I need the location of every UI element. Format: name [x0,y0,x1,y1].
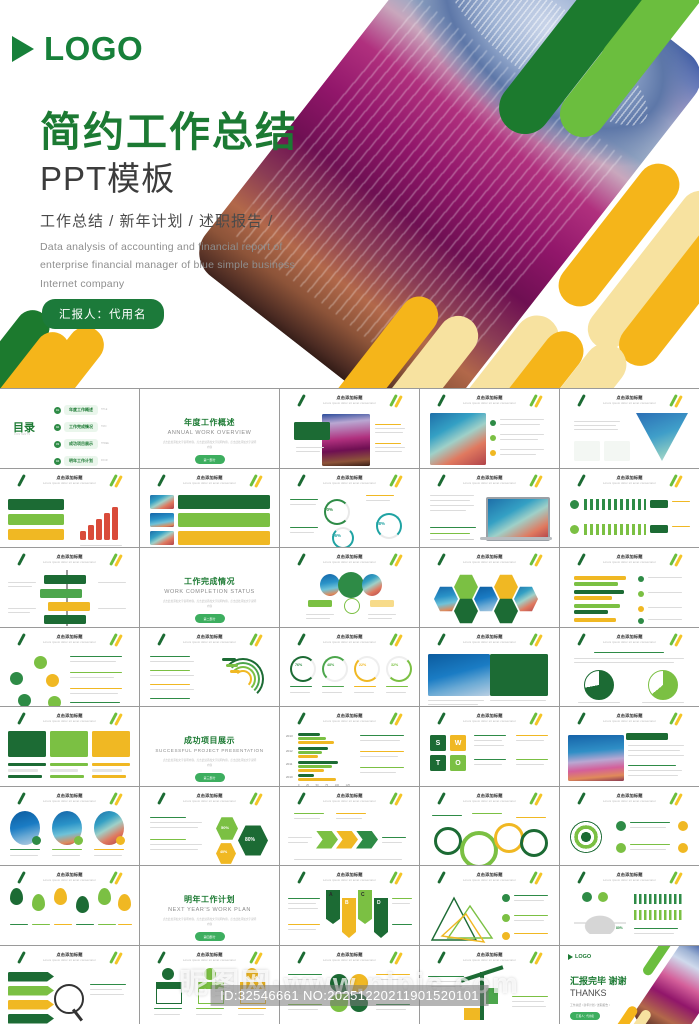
poster-page: LOGO 简约工作总结 PPT模板 工作总结 / 新年计划 / 述职报告 / D… [0,0,699,1024]
catalog-item-label: 工作完成情况 [64,422,98,432]
team-percent: 80% [616,926,623,930]
node [34,656,47,669]
hbar [574,604,620,608]
thumb-jelly-photo-text[interactable]: 点击添加标题 Lorem ipsum dolor sit amet consec… [560,707,699,786]
catalog-item-code: FOUR [101,460,108,462]
crane-load [464,1008,480,1020]
thumb-arrows-chart[interactable]: 点击添加标题 Lorem ipsum dolor sit amet consec… [0,469,139,548]
thumb-title: 点击添加标题 [280,872,419,878]
thumb-subtitle: Lorem ipsum dolor sit amet consectetur [0,800,139,803]
text-panel [490,654,548,696]
card [8,731,46,757]
triangle-photo [636,413,688,461]
map-pin-icon [76,896,89,913]
photo [150,513,174,527]
sign-band [44,615,86,624]
thumb-subtitle: Lorem ipsum dolor sit amet consectetur [420,800,559,803]
thumb-subtitle: Lorem ipsum dolor sit amet consectetur [280,800,419,803]
swot-o: O [450,755,466,771]
swot-s: S [430,735,446,751]
section-desc: 点击此处添加文字说明内容，点击此处添加文字说明内容，点击此处添加文字说明内容 [162,600,257,610]
abcd-letter: C [361,892,365,898]
thumb-title: 点击添加标题 [420,872,559,878]
thumb-title: 点击添加标题 [560,395,699,401]
chart-xtick: 125 [346,784,350,786]
hex-value: 50% [221,825,229,830]
section-title-cn: 工作完成情况 [140,576,279,587]
crane-cabin [486,988,498,1004]
node [46,674,59,687]
arrow-band [8,499,64,510]
thanks-keywords: 工作总结 / 新年计划 / 述职报告 / [570,1003,610,1007]
catalog-item-code: TWO [101,426,106,428]
hex-photo [474,586,498,612]
thumb-subtitle: Lorem ipsum dolor sit amet consectetur [0,641,139,644]
laptop-mockup [486,497,550,541]
chart-bar [298,737,326,740]
sign-band [44,575,86,584]
slide-thumbnail-grid: 目录 CONTENTS 01 年度工作概述 TITLE 02 工作完成情况 TW… [0,388,699,1024]
map-pin-icon [54,888,67,905]
thumb-title: 点击添加标题 [0,554,139,560]
thumb-subtitle: Lorem ipsum dolor sit amet consectetur [140,641,279,644]
sign-band [40,589,82,598]
thanks-pill: 汇报人：代用名 [570,1012,600,1020]
thumb-subtitle: Lorem ipsum dolor sit amet consectetur [0,959,139,962]
donut-chart [386,656,412,682]
thumb-three-cards[interactable]: 点击添加标题 Lorem ipsum dolor sit amet consec… [0,707,139,786]
thumb-hex-percent[interactable]: 点击添加标题 Lorem ipsum dolor sit amet consec… [140,787,279,866]
thumb-oval-photos[interactable]: 点击添加标题 Lorem ipsum dolor sit amet consec… [0,787,139,866]
hex-percent [216,843,236,865]
thumb-image-list-1[interactable]: 点击添加标题 Lorem ipsum dolor sit amet consec… [420,389,559,468]
abcd-letter: B [345,900,349,906]
node [18,694,31,707]
thumb-arrows-row[interactable]: 点击添加标题 Lorem ipsum dolor sit amet consec… [280,787,419,866]
section-desc: 点击此处添加文字说明内容，点击此处添加文字说明内容，点击此处添加文字说明内容 [162,441,257,451]
thanks-logo: LOGO [568,954,591,960]
person-icon [570,500,579,509]
donut-value: 36% [332,533,341,538]
crane-mast [480,972,484,1020]
people-row [584,524,646,535]
thumb-title: 点击添加标题 [0,713,139,719]
catalog-item-code: TITLE [101,409,107,411]
section-title-en: NEXT YEAR'S WORK PLAN [140,907,279,913]
thumb-laptop-data[interactable]: 点击添加标题 Lorem ipsum dolor sit amet consec… [420,469,559,548]
donut-chart [354,656,380,682]
thumb-section-1[interactable]: 年度工作概述 ANNUAL WORK OVERVIEW 点击此处添加文字说明内容… [140,389,279,468]
swot-letter: O [455,760,460,767]
map-pin-icon [10,888,23,905]
catalog-item-label: 成功项目展示 [64,439,98,449]
section-title-en: SUCCESSFUL PROJECT PRESENTATION [140,748,279,753]
map-pin-icon [32,894,45,911]
arrow-chevron [316,831,338,849]
logo-text: LOGO [44,30,143,68]
caption-card [294,422,330,440]
bullet-icon [490,435,496,441]
card [92,731,130,757]
shop-icon [240,982,266,1004]
donut-value: 48% [327,663,334,667]
gear-icon [460,831,498,866]
donut-value: 76% [295,663,302,667]
thumb-subtitle: Lorem ipsum dolor sit amet consectetur [420,720,559,723]
sign-band [48,602,90,611]
hbar [574,576,626,580]
photo [150,531,174,545]
shop-icon [198,982,224,1004]
thumb-title: 点击添加标题 [420,634,559,640]
abcd-letter: D [377,900,381,906]
search-icon [598,892,608,902]
photo [150,495,174,509]
thumb-dolphin-panel[interactable]: 点击添加标题 Lorem ipsum dolor sit amet consec… [420,628,559,707]
thumb-bar-list[interactable]: 点击添加标题 Lorem ipsum dolor sit amet consec… [560,548,699,627]
thumb-gears[interactable]: 点击添加标题 Lorem ipsum dolor sit amet consec… [420,787,559,866]
thumb-triangle-photo[interactable]: 点击添加标题 Lorem ipsum dolor sit amet consec… [560,389,699,468]
thumb-network-diagram[interactable]: 点击添加标题 Lorem ipsum dolor sit amet consec… [0,628,139,707]
gear-icon [520,829,548,857]
photo [568,735,624,781]
list-band [8,986,54,996]
pie-chart [584,670,614,700]
chart-xtick: 50 [316,784,319,786]
section-pill: 第二部分 [194,614,224,623]
section-title-en: ANNUAL WORK OVERVIEW [140,430,279,436]
thumb-image-text-1[interactable]: 点击添加标题 Lorem ipsum dolor sit amet consec… [280,389,419,468]
donut-chart [290,656,316,682]
spiral-cap [226,664,238,667]
stat-card [574,441,600,461]
chart-bar [298,778,336,781]
gear-icon [434,827,462,855]
thumb-title: 点击添加标题 [140,952,279,958]
chart-bar [298,733,320,736]
thumb-circle-photos[interactable]: 点击添加标题 Lorem ipsum dolor sit amet consec… [280,548,419,627]
hex-tile [494,598,518,624]
thumb-subtitle: Lorem ipsum dolor sit amet consectetur [280,879,419,882]
section-title-cn: 年度工作概述 [140,417,279,428]
thumb-title: 点击添加标题 [560,713,699,719]
thumb-title: 点击添加标题 [420,793,559,799]
thumb-subtitle: Lorem ipsum dolor sit amet consectetur [560,482,699,485]
row-band [178,531,270,545]
thumb-section-3[interactable]: 成功项目展示 SUCCESSFUL PROJECT PRESENTATION 点… [140,707,279,786]
hero-title: 简约工作总结 [40,98,298,158]
stat-card [604,441,630,461]
list-band [8,1014,54,1024]
photo-circle [362,574,382,596]
spiral-cap [222,658,236,661]
thumb-title: 点击添加标题 [280,475,419,481]
map-pin-icon [118,894,131,911]
hex-photo [434,586,458,612]
thumb-subtitle: Lorem ipsum dolor sit amet consectetur [420,561,559,564]
badge-icon [32,836,41,845]
people-row [634,894,684,904]
hero-banner: LOGO 简约工作总结 PPT模板 工作总结 / 新年计划 / 述职报告 / D… [0,0,699,388]
catalog-bullet: 03 [54,441,61,448]
hex-tile [454,574,478,600]
bullet-icon [490,420,496,426]
thumb-title: 点击添加标题 [0,634,139,640]
thumb-subtitle: Lorem ipsum dolor sit amet consectetur [280,720,419,723]
thumb-subtitle: Lorem ipsum dolor sit amet consectetur [280,482,419,485]
map-pin-icon [98,888,111,905]
play-triangle-icon [12,36,34,62]
magnifier-icon [54,984,84,1014]
thumb-magnifier-list[interactable]: 点击添加标题 Lorem ipsum dolor sit amet consec… [0,946,139,1024]
shop-icon [156,982,182,1004]
hero-subtitle: PPT模板 [40,152,175,200]
section-pill: 第四部分 [194,932,224,941]
abcd-letter: A [329,892,333,898]
thumb-crane[interactable]: 点击添加标题 Lorem ipsum dolor sit amet consec… [420,946,559,1024]
thumb-shop-icons[interactable]: 点击添加标题 Lorem ipsum dolor sit amet consec… [140,946,279,1024]
thumb-meeting-people[interactable]: 点击添加标题 Lorem ipsum dolor sit amet consec… [560,866,699,945]
section-pill: 第三部分 [194,773,224,782]
thumb-hexagons[interactable]: 点击添加标题 Lorem ipsum dolor sit amet consec… [420,548,559,627]
bar-step [96,519,102,540]
section-title-cn: 成功项目展示 [140,735,279,746]
label-chip [626,733,668,740]
thumb-catalog[interactable]: 目录 CONTENTS 01 年度工作概述 TITLE 02 工作完成情况 TW… [0,389,139,468]
thumb-title: 点击添加标题 [420,713,559,719]
gear-icon [494,823,524,853]
thumb-subtitle: Lorem ipsum dolor sit amet consectetur [420,482,559,485]
clover-leaf [350,974,368,992]
people-row [634,910,684,920]
thumb-title: 点击添加标题 [280,793,419,799]
thumb-subtitle: Lorem ipsum dolor sit amet consectetur [420,879,559,882]
label-chip [650,525,668,533]
thumb-bar-chart[interactable]: 点击添加标题 Lorem ipsum dolor sit amet consec… [280,707,419,786]
thumb-title: 点击添加标题 [0,872,139,878]
swot-letter: T [436,760,440,767]
thumb-subtitle: Lorem ipsum dolor sit amet consectetur [560,641,699,644]
percent-circle [344,598,360,614]
thumb-thanks[interactable]: LOGO 汇报完毕 谢谢 THANKS 工作总结 / 新年计划 / 述职报告 /… [560,946,699,1024]
thumb-subtitle: Lorem ipsum dolor sit amet consectetur [0,879,139,882]
spiral-cap [230,670,240,673]
center-circle [338,572,364,598]
node-icon [678,843,688,853]
hex-value: 40% [220,850,227,854]
thumb-subtitle: Lorem ipsum dolor sit amet consectetur [420,641,559,644]
presenter-badge: 汇报人：代用名 [42,299,164,329]
thumb-title: 点击添加标题 [140,634,279,640]
thumb-triangles-outline[interactable]: 点击添加标题 Lorem ipsum dolor sit amet consec… [420,866,559,945]
thumb-subtitle: Lorem ipsum dolor sit amet consectetur [420,959,559,962]
swot-letter: S [436,740,441,747]
arrow-chevron [356,831,378,849]
thumb-subtitle: Lorem ipsum dolor sit amet consectetur [140,482,279,485]
thumb-title: 点击添加标题 [140,793,279,799]
node-icon [678,821,688,831]
thumb-people-stats[interactable]: 点击添加标题 Lorem ipsum dolor sit amet consec… [560,469,699,548]
thumb-donuts[interactable]: 点击添加标题 Lorem ipsum dolor sit amet consec… [280,469,419,548]
thumb-photo-rows[interactable]: 点击添加标题 Lorem ipsum dolor sit amet consec… [140,469,279,548]
thumb-subtitle: Lorem ipsum dolor sit amet consectetur [280,402,419,405]
chart-bar [298,765,332,768]
clover-leaf [330,994,348,1012]
badge-icon [74,836,83,845]
thumb-title: 点击添加标题 [560,475,699,481]
thumb-title: 点击添加标题 [560,554,699,560]
node-icon [502,914,510,922]
hbar [574,610,608,614]
section-desc: 点击此处添加文字说明内容，点击此处添加文字说明内容，点击此处添加文字说明内容 [162,918,257,928]
donut-value: 22% [359,663,366,667]
row-band [178,495,270,509]
chart-bar [298,755,318,758]
thumb-subtitle: Lorem ipsum dolor sit amet consectetur [420,402,559,405]
target-icon [570,821,602,853]
section-pill: 第一部分 [194,455,224,464]
swot-letter: W [455,740,462,747]
chart-bar [298,774,314,777]
thumb-subtitle: Lorem ipsum dolor sit amet consectetur [0,561,139,564]
label-chip [650,500,668,508]
bullet-icon [490,450,496,456]
section-title-cn: 明年工作计划 [140,894,279,905]
thumb-abcd-banners[interactable]: 点击添加标题 Lorem ipsum dolor sit amet consec… [280,866,419,945]
thumb-subtitle: Lorem ipsum dolor sit amet consectetur [0,482,139,485]
thumb-subtitle: Lorem ipsum dolor sit amet consectetur [280,959,419,962]
thumb-title: 点击添加标题 [420,475,559,481]
thumb-target[interactable]: 点击添加标题 Lorem ipsum dolor sit amet consec… [560,787,699,866]
thumb-subtitle: Lorem ipsum dolor sit amet consectetur [560,561,699,564]
thumb-subtitle: Lorem ipsum dolor sit amet consectetur [560,402,699,405]
thumb-title: 点击添加标题 [420,554,559,560]
chart-xtick: 0 [298,784,299,786]
thumb-clover[interactable]: 点击添加标题 Lorem ipsum dolor sit amet consec… [280,946,419,1024]
photo [428,654,490,696]
hbar [574,596,612,600]
arrow-band [8,514,64,525]
thumb-four-donuts[interactable]: 点击添加标题 Lorem ipsum dolor sit amet consec… [280,628,419,707]
swot-t: T [430,755,446,771]
node-icon [616,843,626,853]
clover-leaf [350,994,368,1012]
node-icon [616,821,626,831]
hex-tile [454,598,478,624]
thanks-title-cn: 汇报完毕 谢谢 [570,974,627,987]
photo [430,413,486,465]
catalog-en: CONTENTS [14,433,30,436]
chart-bar [298,769,324,772]
logo[interactable]: LOGO [12,30,143,68]
thumb-swot[interactable]: 点击添加标题 Lorem ipsum dolor sit amet consec… [420,707,559,786]
meeting-table-illustration [574,908,626,934]
thumb-title: 点击添加标题 [280,713,419,719]
legend-dot [638,618,644,624]
triangle-diagram [428,892,496,944]
thumb-signpost[interactable]: 点击添加标题 Lorem ipsum dolor sit amet consec… [0,548,139,627]
person-icon [570,525,579,534]
thumb-spiral-chart[interactable]: 点击添加标题 Lorem ipsum dolor sit amet consec… [140,628,279,707]
chart-xtick: 100 [335,784,339,786]
laptop-base [480,537,552,540]
donut-chart [376,513,402,539]
pie-chart [648,670,678,700]
badge-icon [162,968,174,980]
section-title-en: WORK COMPLETION STATUS [140,589,279,595]
hbar [574,582,618,586]
thumb-two-pies[interactable]: 点击添加标题 Lorem ipsum dolor sit amet consec… [560,628,699,707]
thumb-title: 点击添加标题 [140,475,279,481]
arrow-chevron [336,831,358,849]
chart-bar [298,747,328,750]
thumb-subtitle: Lorem ipsum dolor sit amet consectetur [280,561,419,564]
thumb-title: 点击添加标题 [280,952,419,958]
catalog-bullet: 04 [54,458,61,465]
hex-tile [494,574,518,600]
chart-bar [298,751,322,754]
donut-value: 32% [391,663,398,667]
thumb-subtitle: Lorem ipsum dolor sit amet consectetur [140,800,279,803]
badge-icon [116,836,125,845]
thanks-title-en: THANKS [570,988,607,998]
catalog-item-label: 明年工作计划 [64,456,98,466]
thumb-title: 点击添加标题 [0,952,139,958]
thumb-title: 点击添加标题 [280,554,419,560]
photo-circle [320,574,340,596]
chart-ylabel: 2012 [286,749,293,753]
badge-icon [246,968,258,980]
thumb-subtitle: Lorem ipsum dolor sit amet consectetur [560,800,699,803]
play-triangle-icon [568,954,573,960]
legend-dot [638,606,644,612]
thumb-title: 点击添加标题 [0,793,139,799]
thumb-section-2[interactable]: 工作完成情况 WORK COMPLETION STATUS 点击此处添加文字说明… [140,548,279,627]
chart-ylabel: 2013 [286,734,293,738]
bar-step [80,531,86,540]
thumb-subtitle: Lorem ipsum dolor sit amet consectetur [560,720,699,723]
chart-xtick: 25 [306,784,309,786]
label-chip [308,600,332,607]
section-desc: 点击此处添加文字说明内容，点击此处添加文字说明内容，点击此处添加文字说明内容 [162,759,257,769]
swot-w: W [450,735,466,751]
thumb-pins-timeline[interactable]: 点击添加标题 Lorem ipsum dolor sit amet consec… [0,866,139,945]
hbar [574,590,624,594]
thumb-section-4[interactable]: 明年工作计划 NEXT YEAR'S WORK PLAN 点击此处添加文字说明内… [140,866,279,945]
hex-photo [514,586,538,612]
bar-step [104,513,110,540]
thumb-subtitle: Lorem ipsum dolor sit amet consectetur [0,720,139,723]
thumb-title: 点击添加标题 [280,634,419,640]
chart-bar [298,761,338,764]
hero-english-desc: Data analysis of accounting and financia… [40,238,302,293]
donut-value: 58% [376,521,385,526]
donut-value: 70% [324,507,333,512]
donut-chart [324,499,350,525]
hbar [574,618,616,622]
chart-ylabel: 2011 [286,762,292,766]
hero-keywords: 工作总结 / 新年计划 / 述职报告 / [40,210,273,231]
node-icon [502,894,510,902]
catalog-item-code: THREE [101,443,109,445]
list-band [8,972,54,982]
thumb-title: 点击添加标题 [420,952,559,958]
meeting-icon [582,892,592,902]
thumb-subtitle: Lorem ipsum dolor sit amet consectetur [280,641,419,644]
thumb-title: 点击添加标题 [280,395,419,401]
arrow-band [8,529,64,540]
list-band [8,1000,54,1010]
